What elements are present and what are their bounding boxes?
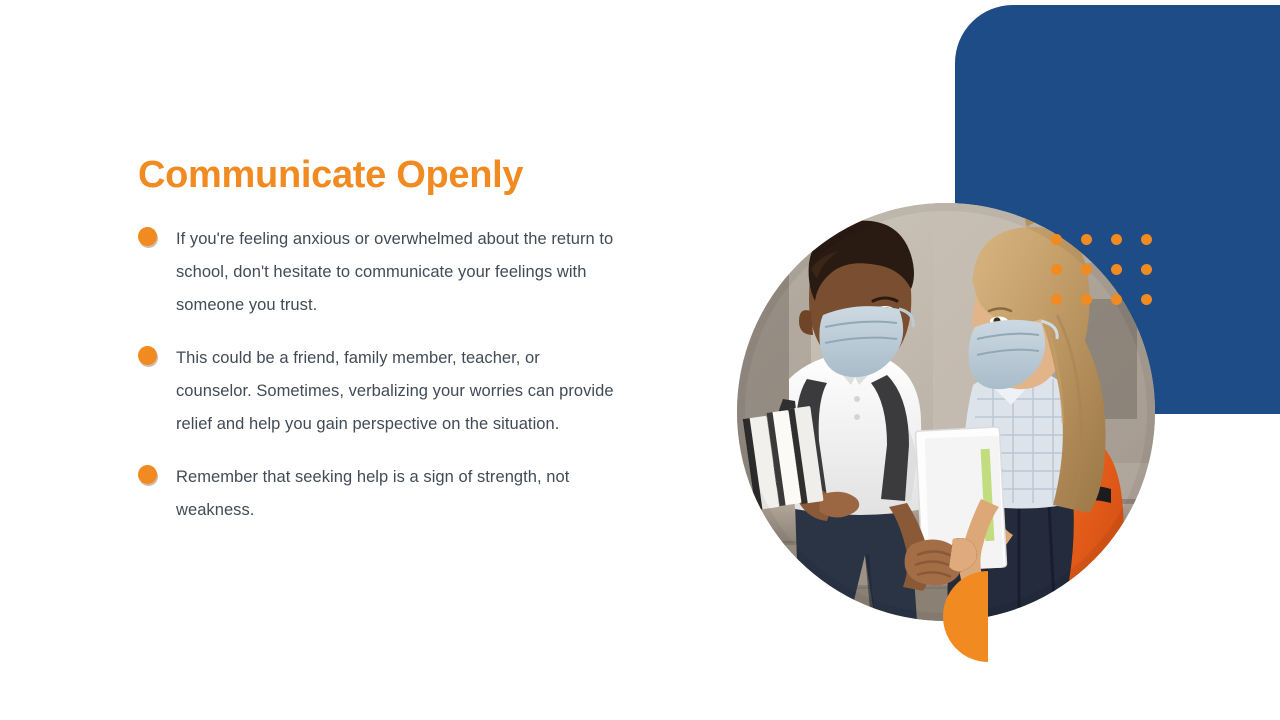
dot <box>1081 264 1092 275</box>
list-item: This could be a friend, family member, t… <box>138 342 618 441</box>
orange-dot-grid <box>1051 234 1159 312</box>
list-item: If you're feeling anxious or overwhelmed… <box>138 223 618 322</box>
dot <box>1051 294 1062 305</box>
dot <box>1111 234 1122 245</box>
page-title: Communicate Openly <box>138 155 618 197</box>
orange-dot-icon <box>138 465 157 484</box>
dot <box>1051 234 1062 245</box>
list-item-text: This could be a friend, family member, t… <box>176 342 618 441</box>
dot <box>1111 294 1122 305</box>
list-item-text: Remember that seeking help is a sign of … <box>176 461 618 527</box>
dot <box>1141 264 1152 275</box>
dot <box>1051 264 1062 275</box>
list-item-text: If you're feeling anxious or overwhelmed… <box>176 223 618 322</box>
dot <box>1081 294 1092 305</box>
orange-dot-icon <box>138 346 157 365</box>
slide-content: Communicate Openly If you're feeling anx… <box>138 155 618 527</box>
dot <box>1111 264 1122 275</box>
dot <box>1141 234 1152 245</box>
orange-dot-icon <box>138 227 157 246</box>
slide-canvas: Communicate Openly If you're feeling anx… <box>0 0 1280 720</box>
list-item: Remember that seeking help is a sign of … <box>138 461 618 527</box>
bullet-list: If you're feeling anxious or overwhelmed… <box>138 223 618 527</box>
dot <box>1081 234 1092 245</box>
dot <box>1141 294 1152 305</box>
